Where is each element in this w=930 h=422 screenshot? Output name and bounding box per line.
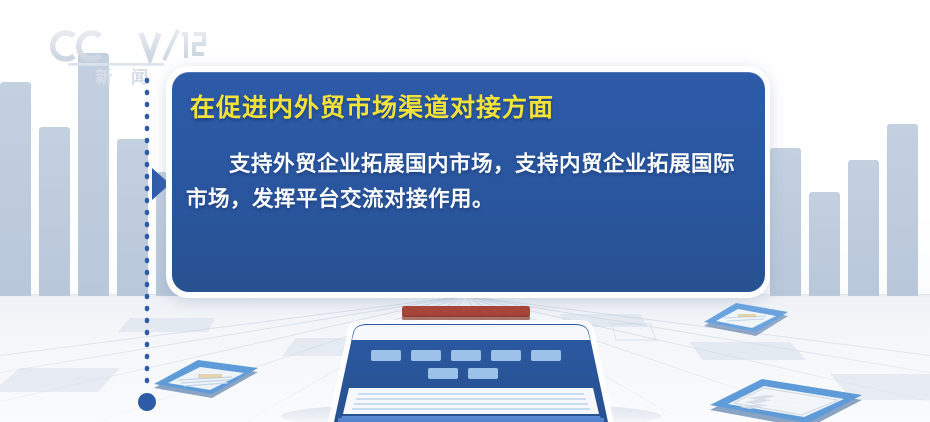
- clipboard-tab: [371, 350, 561, 361]
- broadcast-graphic: 新 闻 在促进内外贸市场渠道对接方面 支持外贸企业拓展国内市场，支持内贸企业拓展…: [0, 0, 930, 422]
- clipboard-document: [276, 296, 666, 422]
- tablet-right-bottom: [704, 378, 866, 422]
- chart-bar: [887, 124, 918, 296]
- tablet-right-top: [700, 302, 792, 344]
- chart-bar: [39, 127, 70, 296]
- svg-text:新: 新: [95, 67, 112, 86]
- chart-bar: [809, 192, 840, 296]
- chart-bar: [0, 82, 31, 296]
- chart-bar: [78, 53, 109, 296]
- info-panel: 在促进内外贸市场渠道对接方面 支持外贸企业拓展国内市场，支持内贸企业拓展国际市场…: [172, 72, 765, 292]
- chart-bar: [848, 160, 879, 296]
- tablet-left: [146, 358, 266, 408]
- panel-heading: 在促进内外贸市场渠道对接方面: [190, 94, 747, 123]
- panel-body-text: 支持外贸企业拓展国内市场，支持内贸企业拓展国际市场，发挥平台交流对接作用。: [186, 147, 747, 217]
- chart-bar: [770, 148, 801, 296]
